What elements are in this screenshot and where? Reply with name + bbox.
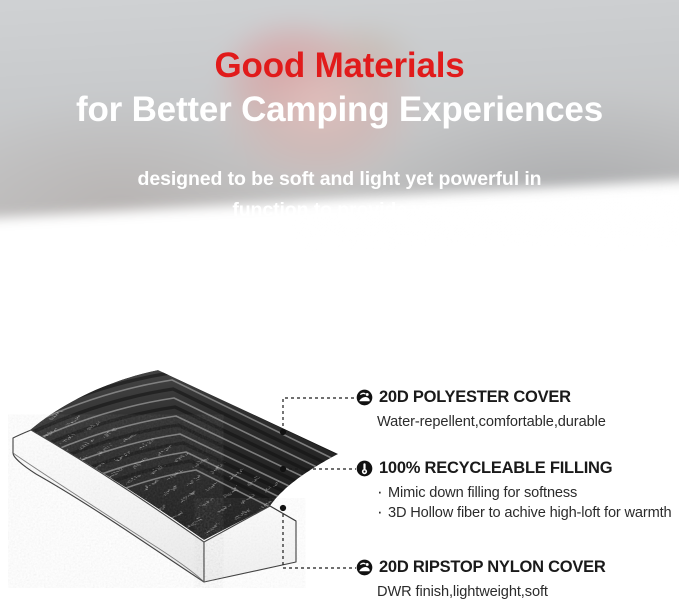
headline-accent-line: Good Materials — [0, 48, 679, 83]
callout-heading: 20D RIPSTOP NYLON COVER — [356, 559, 679, 576]
callout-bullets: Mimic down filling for softness 3D Hollo… — [377, 483, 679, 523]
hero-bottom-fade — [0, 238, 679, 330]
callout-description: DWR finish,lightweight,soft — [377, 583, 679, 602]
callout-heading: 20D POLYESTER COVER — [356, 389, 679, 406]
callout-title: 20D POLYESTER COVER — [379, 389, 571, 406]
subheading-line-2: function to provide you — [0, 195, 679, 226]
layer-badge-icon — [356, 559, 373, 576]
headline-main-line: for Better Camping Experiences — [0, 92, 679, 127]
callout-heading: 100% RECYCLEABLE FILLING — [356, 460, 679, 477]
callout-bullet: Mimic down filling for softness — [377, 483, 679, 503]
product-diagram-section: 20D POLYESTER COVER Water-repellent,comf… — [0, 330, 679, 611]
callout-title: 100% RECYCLEABLE FILLING — [379, 460, 612, 477]
callout-item-polyester-cover: 20D POLYESTER COVER Water-repellent,comf… — [356, 389, 679, 432]
layer-badge-icon — [356, 389, 373, 406]
callout-description: Water-repellent,comfortable,durable — [377, 413, 679, 432]
fill-badge-icon — [356, 460, 373, 477]
product-cutaway-illustration — [8, 358, 358, 588]
callout-title: 20D RIPSTOP NYLON COVER — [379, 559, 606, 576]
product-feature-banner: Good Materials for Better Camping Experi… — [0, 0, 679, 611]
callout-item-recycleable-filling: 100% RECYCLEABLE FILLING Mimic down fill… — [356, 460, 679, 523]
subheading-line-1: designed to be soft and light yet powerf… — [0, 164, 679, 195]
hero-headline-group: Good Materials for Better Camping Experi… — [0, 48, 679, 127]
callout-item-ripstop-nylon-cover: 20D RIPSTOP NYLON COVER DWR finish,light… — [356, 559, 679, 602]
hero-section: Good Materials for Better Camping Experi… — [0, 0, 679, 330]
callout-bullet: 3D Hollow fiber to achive high-loft for … — [377, 503, 679, 523]
